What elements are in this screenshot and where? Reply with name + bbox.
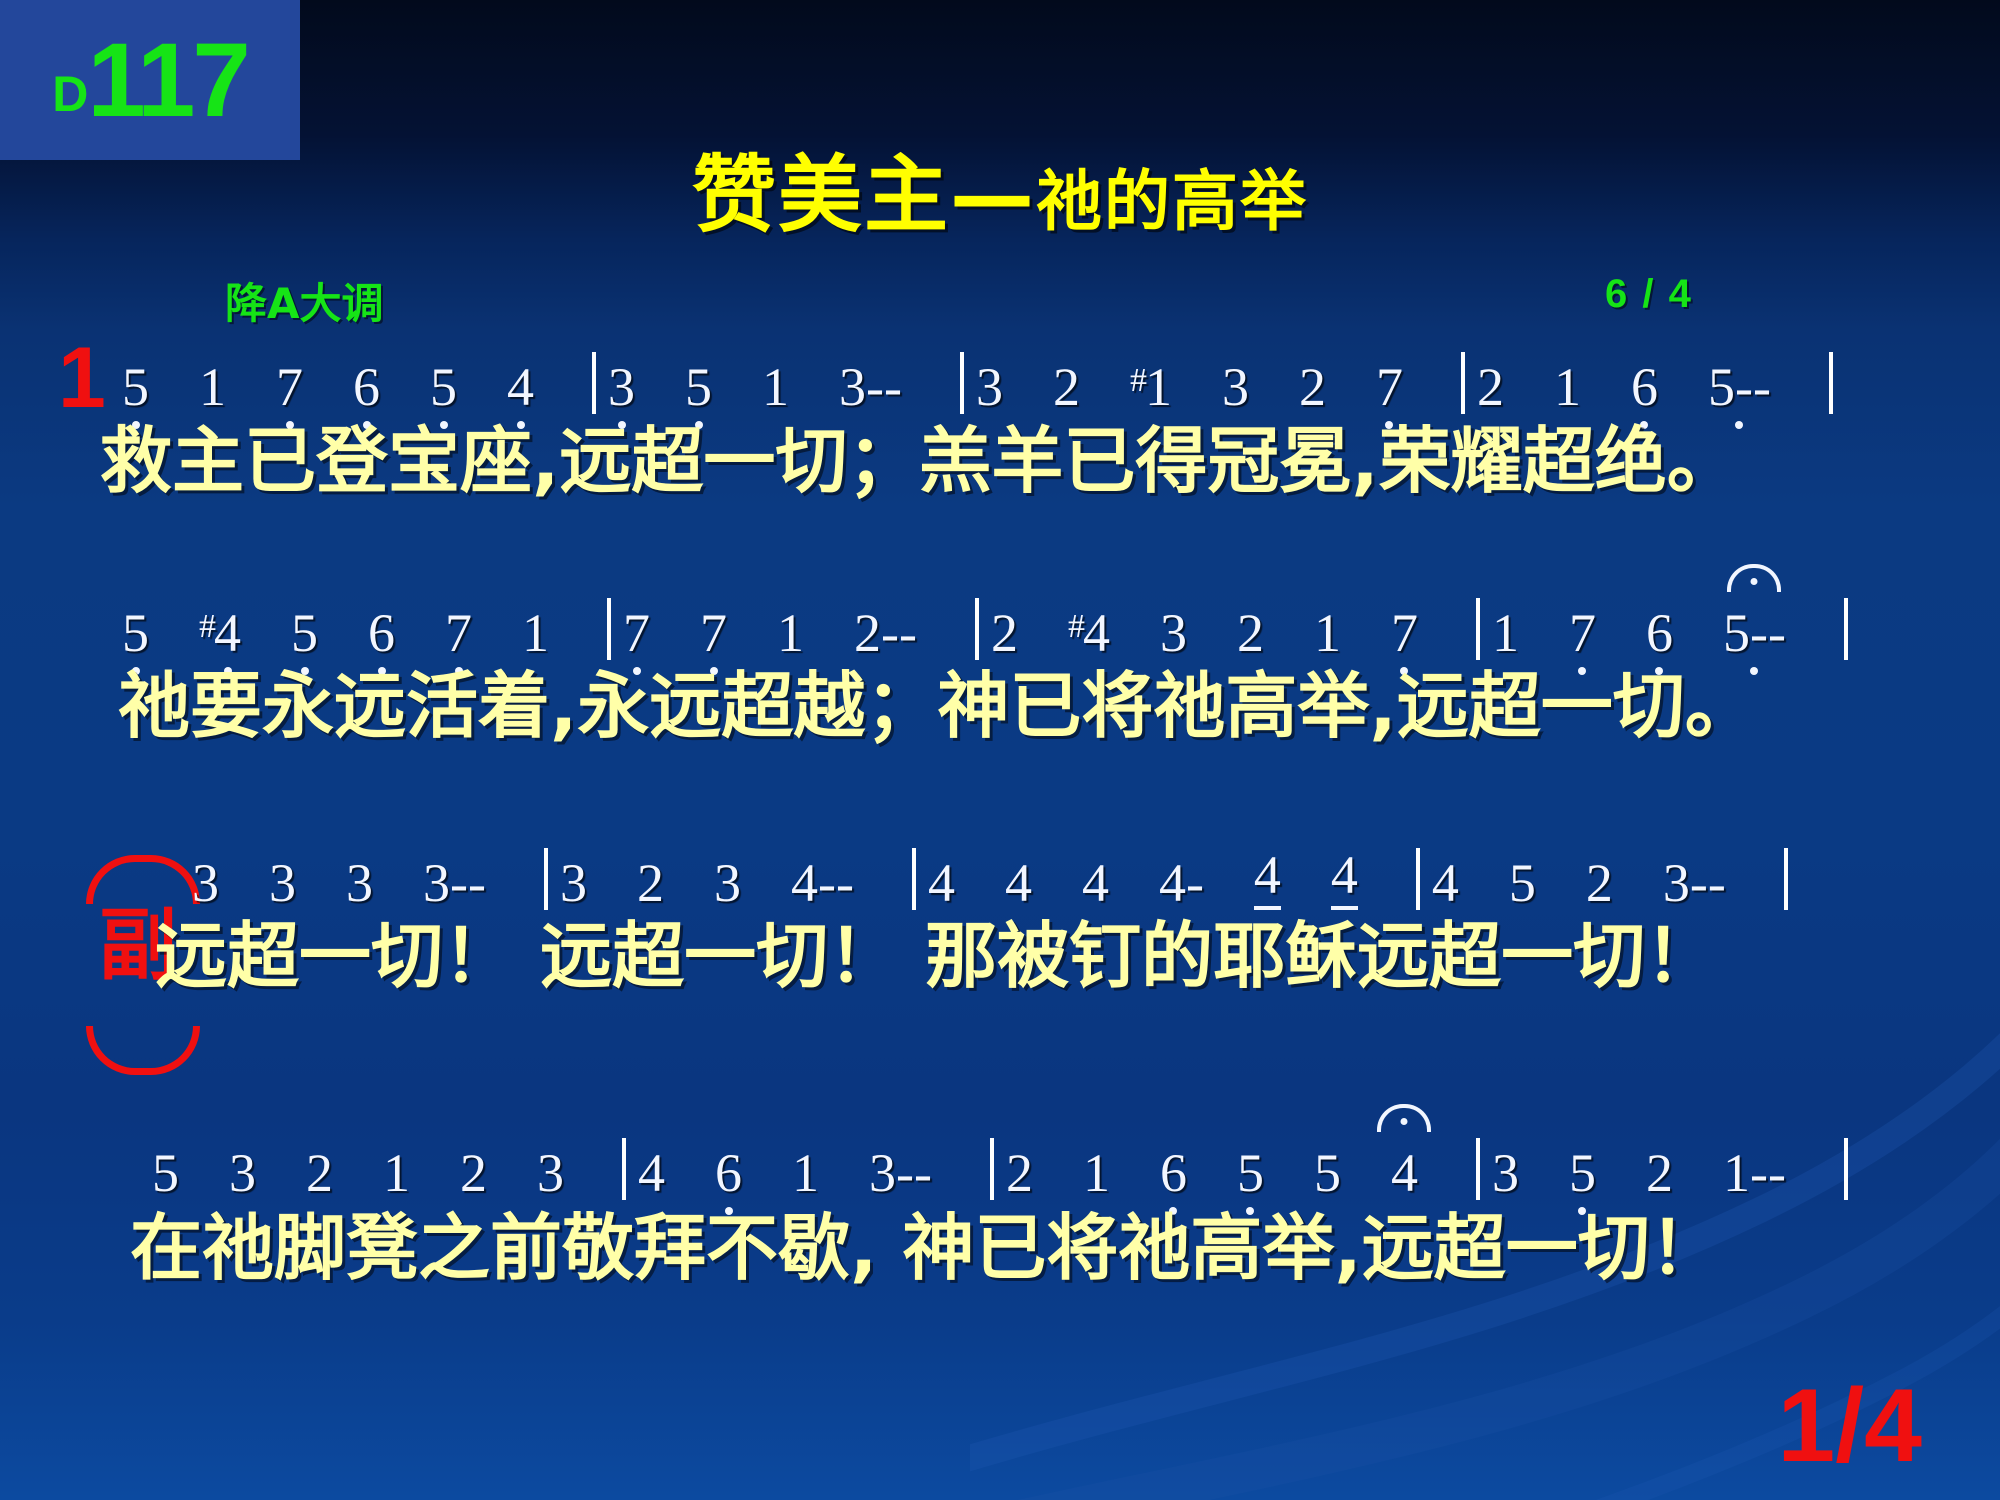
chorus-arc-top-icon <box>86 855 200 904</box>
note-digit: 2 <box>1477 360 1504 414</box>
note-digit: 5 <box>1237 1146 1264 1200</box>
note-digit: 7 <box>276 360 303 414</box>
chorus-arc-bottom-icon <box>86 1026 200 1075</box>
note-digit: 3 <box>192 856 219 910</box>
lyrics-line: 远超一切！ 远超一切！ 那被钉的耶稣远超一切！ <box>155 920 1717 992</box>
note-digit: 2 <box>306 1146 333 1200</box>
note: 2 <box>1235 606 1266 660</box>
measure: 4523-- <box>1430 856 1774 910</box>
note: 6 <box>1158 1146 1189 1200</box>
note: 2 <box>1475 360 1506 414</box>
note-digit: 1 <box>1554 360 1581 414</box>
note: 5 <box>289 606 320 660</box>
note-digit: 2 <box>1646 1146 1673 1200</box>
note: 5 <box>1507 856 1538 910</box>
note-digit: 2 <box>1053 360 1080 414</box>
note-digit: 5 <box>1509 856 1536 910</box>
note-digit: 4 <box>1254 848 1281 910</box>
note-digit: 6 <box>353 360 380 414</box>
note-digit: 1 <box>199 360 226 414</box>
measure: 3513-- <box>606 360 950 414</box>
note-digit: 4 <box>1432 856 1459 910</box>
note: 2 <box>1297 360 1328 414</box>
note: 4 <box>1329 848 1360 910</box>
note: 6 <box>1644 606 1675 660</box>
note: #1 <box>1128 360 1174 414</box>
note-digit: 6 <box>1631 360 1658 414</box>
note: 1 <box>760 360 791 414</box>
measure: 7712-- <box>621 606 965 660</box>
note-digit: 2 <box>460 1146 487 1200</box>
note-digit: 1 <box>777 606 804 660</box>
note-digit: 3 <box>269 856 296 910</box>
barline <box>622 1138 626 1200</box>
barline <box>1416 848 1420 910</box>
note: 3-- <box>837 360 904 414</box>
note: 4 <box>1080 856 1111 910</box>
note: 6 <box>366 606 397 660</box>
note-digit: 3 <box>1492 1146 1519 1200</box>
note-digit: 2 <box>637 856 664 910</box>
note-digit: 3 <box>608 360 635 414</box>
note: 6 <box>1629 360 1660 414</box>
note: 7 <box>274 360 305 414</box>
note: 4- <box>1157 856 1206 910</box>
note: 3 <box>558 856 589 910</box>
note-digit: 2 <box>991 606 1018 660</box>
note-digit: 5 <box>291 606 318 660</box>
note: 4 <box>1003 856 1034 910</box>
note: 4 <box>1430 856 1461 910</box>
note: 2 <box>1004 1146 1035 1200</box>
note: 1 <box>1081 1146 1112 1200</box>
note-digit: 4 <box>1391 1146 1418 1200</box>
measure: 4613-- <box>636 1146 980 1200</box>
barline <box>912 848 916 910</box>
measure: 1765-- <box>1490 606 1834 660</box>
note-digit: 1 <box>1145 360 1172 414</box>
note-digit: 4-- <box>791 856 854 910</box>
verse-number: 1 <box>58 335 106 421</box>
note: 6 <box>713 1146 744 1200</box>
barline <box>1476 598 1480 660</box>
note-digit: 3 <box>560 856 587 910</box>
barline <box>544 848 548 910</box>
measure: 32#1327 <box>974 360 1451 414</box>
note-digit: 2-- <box>854 606 917 660</box>
measure: 517654 <box>120 360 582 414</box>
note: 2-- <box>852 606 919 660</box>
barline <box>1844 598 1848 660</box>
barline <box>1784 848 1788 910</box>
slide-root: D 117 赞美主—祂的高举 降A大调 6 / 4 1 副 5176543513… <box>0 0 2000 1500</box>
note-digit: 1 <box>1314 606 1341 660</box>
measure: 3521-- <box>1490 1146 1834 1200</box>
note-digit: 4 <box>1005 856 1032 910</box>
note: 1 <box>381 1146 412 1200</box>
note: 1 <box>520 606 551 660</box>
lyrics-line: 在祂脚凳之前敬拜不歇, 神已将祂高举,远超一切！ <box>130 1212 1722 1284</box>
note: 1 <box>1312 606 1343 660</box>
note-digit: 3-- <box>423 856 486 910</box>
note: 3 <box>190 856 221 910</box>
note: 1 <box>775 606 806 660</box>
lyrics-line: 救主已登宝座,远超一切；羔羊已得冠冕,荣耀超绝。 <box>100 425 1739 497</box>
note-digit: 2 <box>1299 360 1326 414</box>
note: 4-- <box>789 856 856 910</box>
page-title: 赞美主—祂的高举 <box>0 128 2000 249</box>
note: 4 <box>505 360 536 414</box>
note-digit: 3 <box>229 1146 256 1200</box>
note: 3 <box>267 856 298 910</box>
note: 7 <box>621 606 652 660</box>
title-sub: 祂的高举 <box>1036 163 1308 240</box>
fermata-icon <box>1727 564 1781 592</box>
note-digit: 6 <box>1646 606 1673 660</box>
measure: 2165-- <box>1475 360 1819 414</box>
note: 2 <box>1051 360 1082 414</box>
note: 5 <box>428 360 459 414</box>
note-digit: 5-- <box>1723 606 1786 660</box>
note-digit: 1 <box>1492 606 1519 660</box>
note-digit: 4 <box>1082 856 1109 910</box>
note-digit: 3-- <box>1663 856 1726 910</box>
note-digit: 2 <box>1586 856 1613 910</box>
note-digit: 5 <box>122 360 149 414</box>
barline <box>1829 352 1833 414</box>
note: 7 <box>698 606 729 660</box>
note: 5-- <box>1706 360 1773 414</box>
note: 7 <box>1374 360 1405 414</box>
note-digit: 1 <box>792 1146 819 1200</box>
note: 2 <box>989 606 1020 660</box>
notation-row: 3333--3234--4444-444523-- <box>190 848 1798 910</box>
hymn-book-prefix: D <box>52 69 87 119</box>
note-digit: 4- <box>1159 856 1204 910</box>
note-digit: 7 <box>700 606 727 660</box>
note: 3 <box>712 856 743 910</box>
barline <box>990 1138 994 1200</box>
measure: 3333-- <box>190 856 534 910</box>
note: 7 <box>1567 606 1598 660</box>
note: 3 <box>1220 360 1251 414</box>
note: 5-- <box>1721 606 1788 660</box>
title-main: 赞美主— <box>692 146 1036 244</box>
note-digit: 1 <box>522 606 549 660</box>
note: 4 <box>636 1146 667 1200</box>
hymn-number: 117 <box>87 28 247 133</box>
time-signature: 6 / 4 <box>1605 272 1693 317</box>
note-digit: 2 <box>1006 1146 1033 1200</box>
note-digit: 5 <box>152 1146 179 1200</box>
note: 5 <box>1567 1146 1598 1200</box>
note: 5 <box>150 1146 181 1200</box>
note: 2 <box>304 1146 335 1200</box>
measure: 3234-- <box>558 856 902 910</box>
note: 2 <box>1644 1146 1675 1200</box>
barline <box>592 352 596 414</box>
note: 2 <box>1584 856 1615 910</box>
measure: 216554 <box>1004 1146 1466 1200</box>
note-digit: 3 <box>976 360 1003 414</box>
note-digit: 4 <box>1083 606 1110 660</box>
notation-row: 5321234613--2165543521-- <box>150 1138 1858 1200</box>
note: 3 <box>1158 606 1189 660</box>
fermata-icon <box>1377 1104 1431 1132</box>
note-digit: 5-- <box>1708 360 1771 414</box>
note-digit: 4 <box>214 606 241 660</box>
note: 2 <box>458 1146 489 1200</box>
note-digit: 3 <box>714 856 741 910</box>
note: #4 <box>1066 606 1112 660</box>
note-digit: 7 <box>1569 606 1596 660</box>
note-digit: 5 <box>430 360 457 414</box>
note: 1 <box>790 1146 821 1200</box>
note: 3 <box>535 1146 566 1200</box>
barline <box>960 352 964 414</box>
note: 5 <box>1312 1146 1343 1200</box>
note-digit: 7 <box>445 606 472 660</box>
barline <box>1461 352 1465 414</box>
note: 3 <box>1490 1146 1521 1200</box>
note: 2 <box>635 856 666 910</box>
note-digit: 5 <box>685 360 712 414</box>
note-digit: 7 <box>1376 360 1403 414</box>
note: 3 <box>606 360 637 414</box>
note-digit: 1 <box>1083 1146 1110 1200</box>
note: 1 <box>1552 360 1583 414</box>
note: 3-- <box>421 856 488 910</box>
measure: 532123 <box>150 1146 612 1200</box>
note-digit: 6 <box>368 606 395 660</box>
barline <box>975 598 979 660</box>
note-digit: 4 <box>928 856 955 910</box>
note-digit: 4 <box>507 360 534 414</box>
measure: 4444-44 <box>926 848 1406 910</box>
note: 1-- <box>1721 1146 1788 1200</box>
note-digit: 3 <box>346 856 373 910</box>
key-signature: 降A大调 <box>225 270 384 331</box>
notation-row: 5176543513--32#13272165-- <box>120 352 1843 414</box>
note: 5 <box>683 360 714 414</box>
note: 6 <box>351 360 382 414</box>
note-digit: 3 <box>1222 360 1249 414</box>
note: 4 <box>1389 1146 1420 1200</box>
measure: 5#45671 <box>120 606 597 660</box>
note-digit: 1 <box>762 360 789 414</box>
note: 3 <box>974 360 1005 414</box>
note: 5 <box>120 606 151 660</box>
notation-row: 5#456717712--2#432171765-- <box>120 598 1858 660</box>
note-digit: 5 <box>122 606 149 660</box>
note: 3-- <box>1661 856 1728 910</box>
note-digit: 1-- <box>1723 1146 1786 1200</box>
note-digit: 6 <box>1160 1146 1187 1200</box>
note: 4 <box>1252 848 1283 910</box>
note-digit: 3 <box>1160 606 1187 660</box>
note: 3 <box>344 856 375 910</box>
note-digit: 7 <box>1391 606 1418 660</box>
note-digit: 3-- <box>869 1146 932 1200</box>
note: 7 <box>443 606 474 660</box>
note-digit: 3-- <box>839 360 902 414</box>
barline <box>1844 1138 1848 1200</box>
note: #4 <box>197 606 243 660</box>
measure: 2#43217 <box>989 606 1466 660</box>
note-digit: 1 <box>383 1146 410 1200</box>
note: 1 <box>197 360 228 414</box>
note-digit: 3 <box>537 1146 564 1200</box>
note: 7 <box>1389 606 1420 660</box>
barline <box>607 598 611 660</box>
lyrics-line: 祂要永远活着,永远超越；神已将祂高举,远超一切。 <box>118 670 1757 742</box>
note: 3-- <box>867 1146 934 1200</box>
note-digit: 4 <box>638 1146 665 1200</box>
note-digit: 7 <box>623 606 650 660</box>
note: 4 <box>926 856 957 910</box>
page-indicator: 1/4 <box>1777 1374 1922 1478</box>
note: 5 <box>1235 1146 1266 1200</box>
note-digit: 5 <box>1569 1146 1596 1200</box>
note: 3 <box>227 1146 258 1200</box>
note: 5 <box>120 360 151 414</box>
note-digit: 2 <box>1237 606 1264 660</box>
note: 1 <box>1490 606 1521 660</box>
note-digit: 4 <box>1331 848 1358 910</box>
note-digit: 5 <box>1314 1146 1341 1200</box>
note-digit: 6 <box>715 1146 742 1200</box>
barline <box>1476 1138 1480 1200</box>
